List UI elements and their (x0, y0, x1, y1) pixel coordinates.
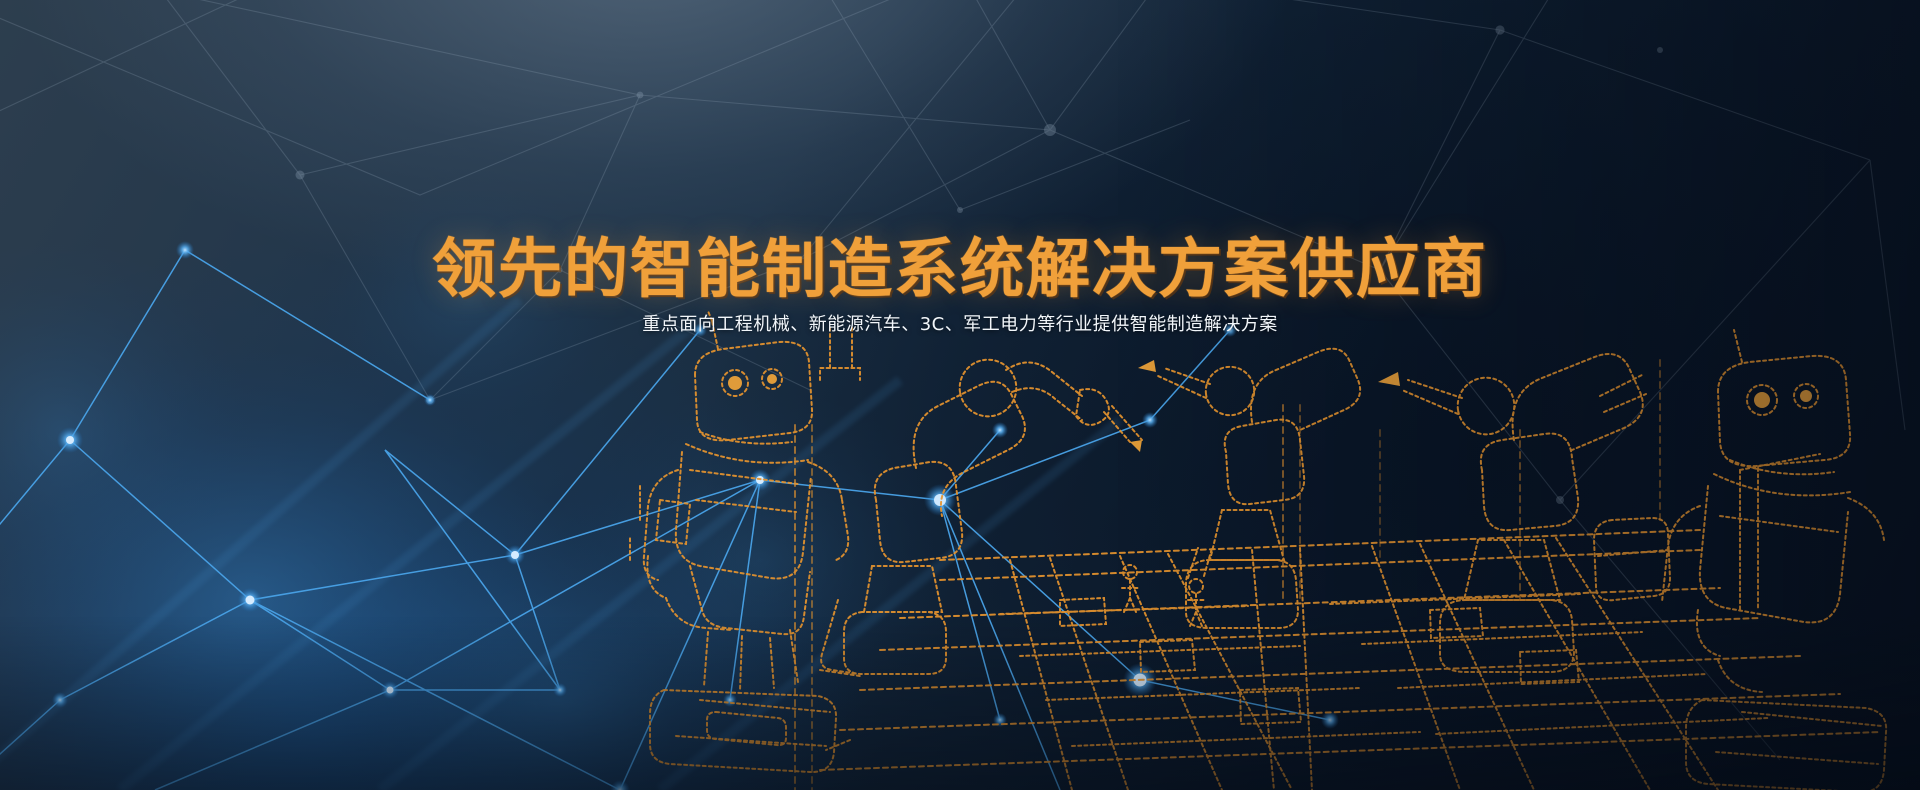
industrial-robots-line-art-icon (0, 0, 1920, 790)
hero-banner: 领先的智能制造系统解决方案供应商 重点面向工程机械、新能源汽车、3C、军工电力等… (0, 0, 1920, 790)
